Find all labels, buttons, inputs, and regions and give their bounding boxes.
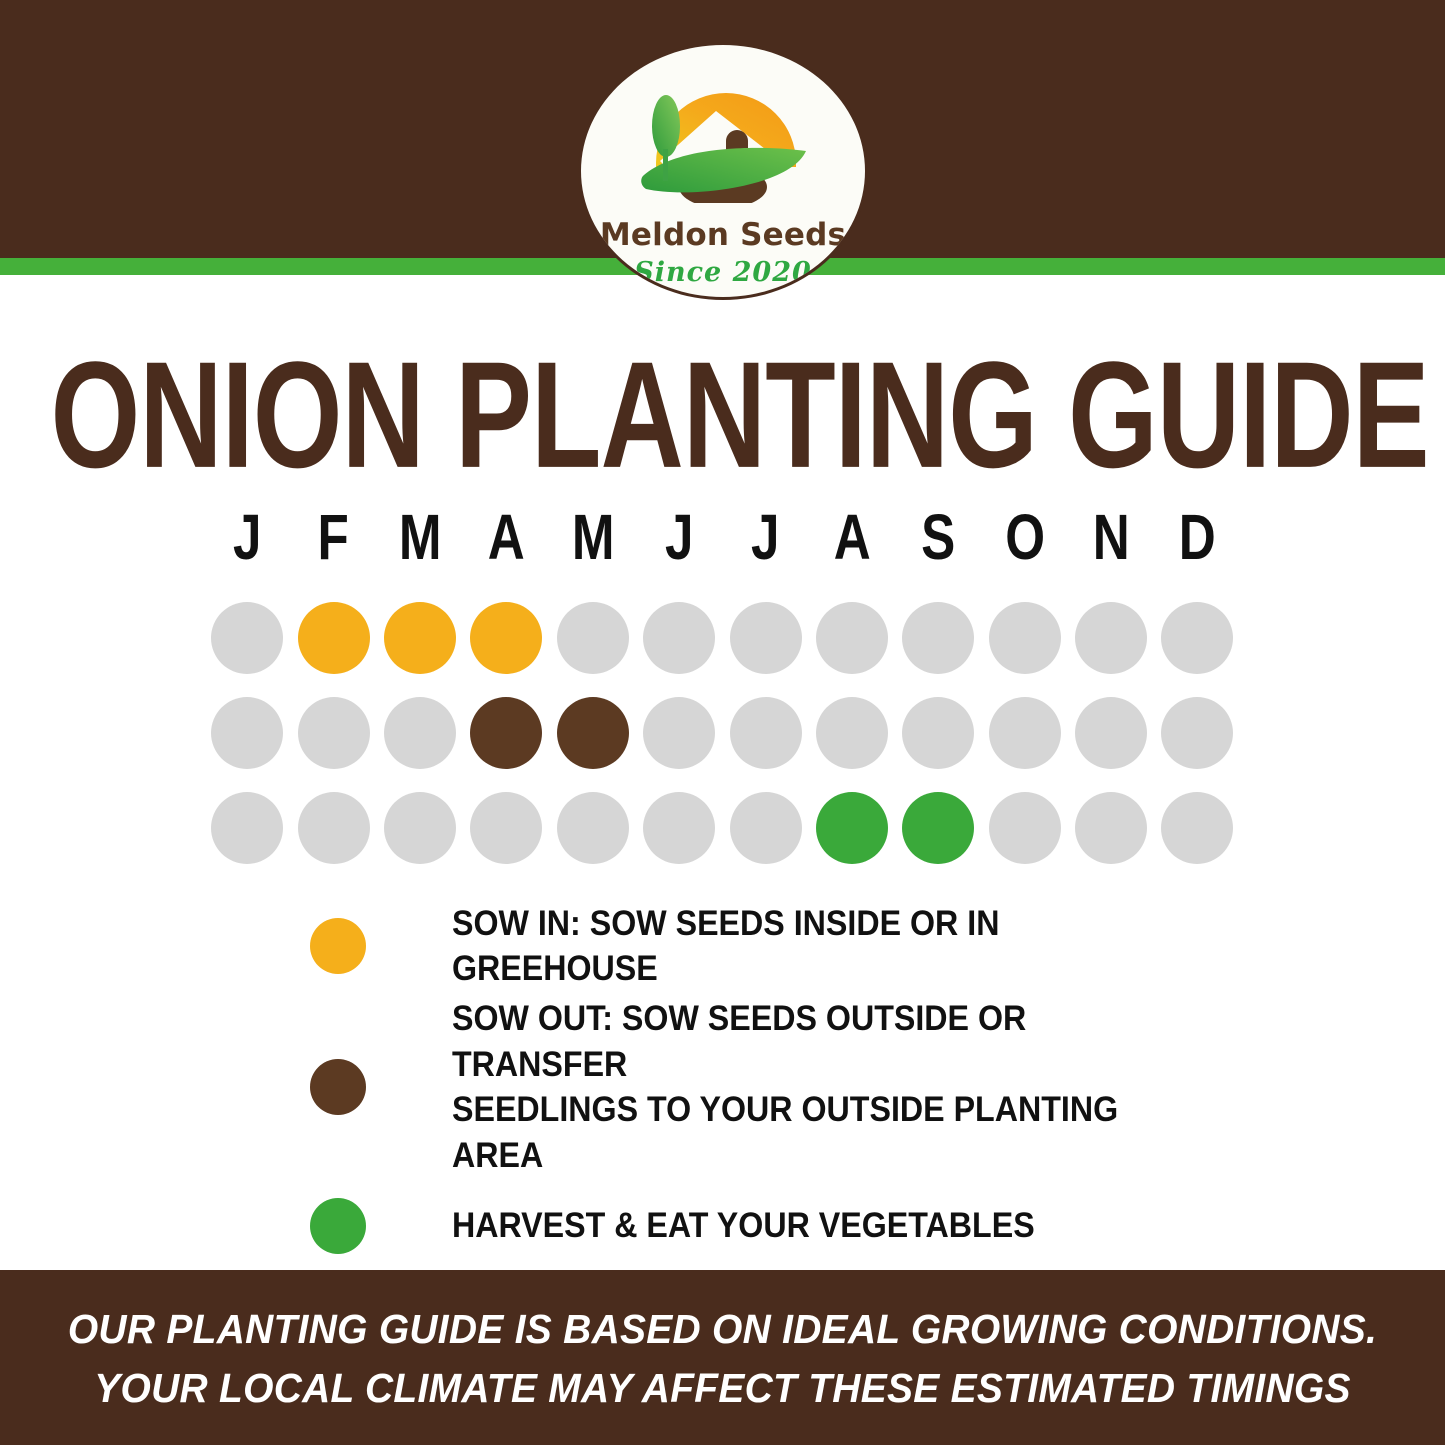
calendar-cell-sow-in-M4 (550, 602, 636, 674)
dot-inactive (902, 602, 974, 674)
month-label-8: S (904, 505, 973, 569)
logo-tagline: Since 2020 (581, 257, 865, 288)
logo-brand-name: Meldon Seeds (581, 217, 865, 253)
calendar-cell-sow-out-A7 (809, 697, 895, 769)
farmhouse-tree-seed-icon (620, 71, 826, 203)
calendar-cell-sow-in-S8 (895, 602, 981, 674)
calendar-cell-sow-in-A3 (463, 602, 549, 674)
month-label-7: A (817, 505, 886, 569)
dot-inactive (1161, 792, 1233, 864)
month-label-0: J (213, 505, 282, 569)
month-label-5: J (645, 505, 714, 569)
dot-inactive (384, 792, 456, 864)
dot-inactive (902, 697, 974, 769)
dot-active-sow-out (557, 697, 629, 769)
legend-label-sow-out: SOW OUT: SOW SEEDS OUTSIDE OR TRANSFER S… (452, 996, 1149, 1178)
month-label-3: A (472, 505, 541, 569)
legend-label-sow-out-line1: SOW OUT: SOW SEEDS OUTSIDE OR TRANSFER (452, 996, 1149, 1087)
dot-inactive (989, 697, 1061, 769)
calendar-cell-harvest-D11 (1154, 792, 1240, 864)
footer-band: OUR PLANTING GUIDE IS BASED ON IDEAL GRO… (0, 1270, 1445, 1445)
dot-inactive (557, 602, 629, 674)
dot-inactive (730, 602, 802, 674)
page-title: ONION PLANTING GUIDE (51, 340, 1395, 491)
dot-active-sow-in (470, 602, 542, 674)
dot-inactive (470, 792, 542, 864)
dot-inactive (643, 792, 715, 864)
dot-inactive (211, 792, 283, 864)
month-label-4: M (558, 505, 627, 569)
calendar-cell-sow-in-N10 (1068, 602, 1154, 674)
calendar-cell-sow-in-J6 (722, 602, 808, 674)
calendar-cell-sow-out-A3 (463, 697, 549, 769)
legend-dot-sow-out (310, 1059, 366, 1115)
calendar-cell-harvest-N10 (1068, 792, 1154, 864)
calendar-cell-sow-out-D11 (1154, 697, 1240, 769)
month-label-1: F (299, 505, 368, 569)
calendar-cell-harvest-J5 (636, 792, 722, 864)
dot-active-sow-out (470, 697, 542, 769)
calendar-cell-harvest-A3 (463, 792, 549, 864)
dot-inactive (816, 697, 888, 769)
calendar-cell-sow-in-J5 (636, 602, 722, 674)
dot-inactive (211, 602, 283, 674)
dot-inactive (298, 697, 370, 769)
dot-inactive (557, 792, 629, 864)
dot-inactive (730, 792, 802, 864)
dot-inactive (298, 792, 370, 864)
dot-inactive (730, 697, 802, 769)
legend-dot-sow-in (310, 918, 366, 974)
calendar-cell-sow-out-O9 (982, 697, 1068, 769)
dot-active-sow-in (384, 602, 456, 674)
brand-logo: Meldon Seeds Since 2020 (578, 42, 868, 300)
dot-inactive (384, 697, 456, 769)
legend-item-sow-in: SOW IN: SOW SEEDS INSIDE OR IN GREEHOUSE (310, 896, 1210, 996)
calendar-cell-harvest-O9 (982, 792, 1068, 864)
dot-inactive (211, 697, 283, 769)
footer-disclaimer-line2: YOUR LOCAL CLIMATE MAY AFFECT THESE ESTI… (36, 1359, 1409, 1418)
legend-label-sow-in: SOW IN: SOW SEEDS INSIDE OR IN GREEHOUSE (452, 901, 1149, 992)
calendar-cell-sow-in-M2 (377, 602, 463, 674)
dot-inactive (989, 792, 1061, 864)
calendar-cell-sow-in-J0 (204, 602, 290, 674)
calendar-cell-sow-out-M4 (550, 697, 636, 769)
calendar-cell-sow-out-J5 (636, 697, 722, 769)
dot-inactive (1075, 792, 1147, 864)
dot-inactive (1161, 602, 1233, 674)
dot-active-harvest (816, 792, 888, 864)
legend-dot-harvest (310, 1198, 366, 1254)
calendar-cell-harvest-M4 (550, 792, 636, 864)
calendar-cell-sow-out-J0 (204, 697, 290, 769)
calendar-cell-harvest-F1 (290, 792, 376, 864)
legend-label-sow-out-line2: SEEDLINGS TO YOUR OUTSIDE PLANTING AREA (452, 1087, 1149, 1178)
month-label-10: N (1077, 505, 1146, 569)
calendar-cell-sow-out-N10 (1068, 697, 1154, 769)
calendar-cell-harvest-S8 (895, 792, 981, 864)
calendar-cell-sow-in-A7 (809, 602, 895, 674)
dot-active-sow-in (298, 602, 370, 674)
footer-disclaimer-line1: OUR PLANTING GUIDE IS BASED ON IDEAL GRO… (36, 1300, 1409, 1359)
calendar-cell-sow-in-F1 (290, 602, 376, 674)
calendar-row-sow-in (204, 590, 1244, 685)
calendar-cell-harvest-J0 (204, 792, 290, 864)
legend-label-harvest: HARVEST & EAT YOUR VEGETABLES (452, 1203, 1035, 1249)
dot-inactive (816, 602, 888, 674)
calendar-cell-sow-out-M2 (377, 697, 463, 769)
calendar-row-sow-out (204, 685, 1244, 780)
calendar-cell-sow-out-J6 (722, 697, 808, 769)
dot-inactive (989, 602, 1061, 674)
calendar-row-harvest (204, 780, 1244, 875)
calendar-cell-harvest-J6 (722, 792, 808, 864)
legend-item-sow-out: SOW OUT: SOW SEEDS OUTSIDE OR TRANSFER S… (310, 996, 1210, 1178)
dot-inactive (1075, 602, 1147, 674)
calendar-cell-harvest-A7 (809, 792, 895, 864)
calendar-cell-sow-out-S8 (895, 697, 981, 769)
calendar-cell-sow-out-F1 (290, 697, 376, 769)
dot-active-harvest (902, 792, 974, 864)
dot-inactive (643, 602, 715, 674)
legend-item-harvest: HARVEST & EAT YOUR VEGETABLES (310, 1178, 1210, 1274)
month-label-2: M (385, 505, 454, 569)
calendar-cell-sow-in-D11 (1154, 602, 1240, 674)
month-label-11: D (1163, 505, 1232, 569)
dot-inactive (1075, 697, 1147, 769)
dot-inactive (1161, 697, 1233, 769)
legend: SOW IN: SOW SEEDS INSIDE OR IN GREEHOUSE… (310, 896, 1210, 1274)
month-label-9: O (990, 505, 1059, 569)
dot-inactive (643, 697, 715, 769)
logo-circle: Meldon Seeds Since 2020 (578, 42, 868, 300)
month-header-row: JFMAMJJASOND (204, 498, 1244, 576)
planting-calendar: JFMAMJJASOND (204, 498, 1244, 875)
month-label-6: J (731, 505, 800, 569)
calendar-cell-harvest-M2 (377, 792, 463, 864)
calendar-cell-sow-in-O9 (982, 602, 1068, 674)
footer-disclaimer: OUR PLANTING GUIDE IS BASED ON IDEAL GRO… (36, 1300, 1409, 1419)
calendar-dot-rows (204, 590, 1244, 875)
